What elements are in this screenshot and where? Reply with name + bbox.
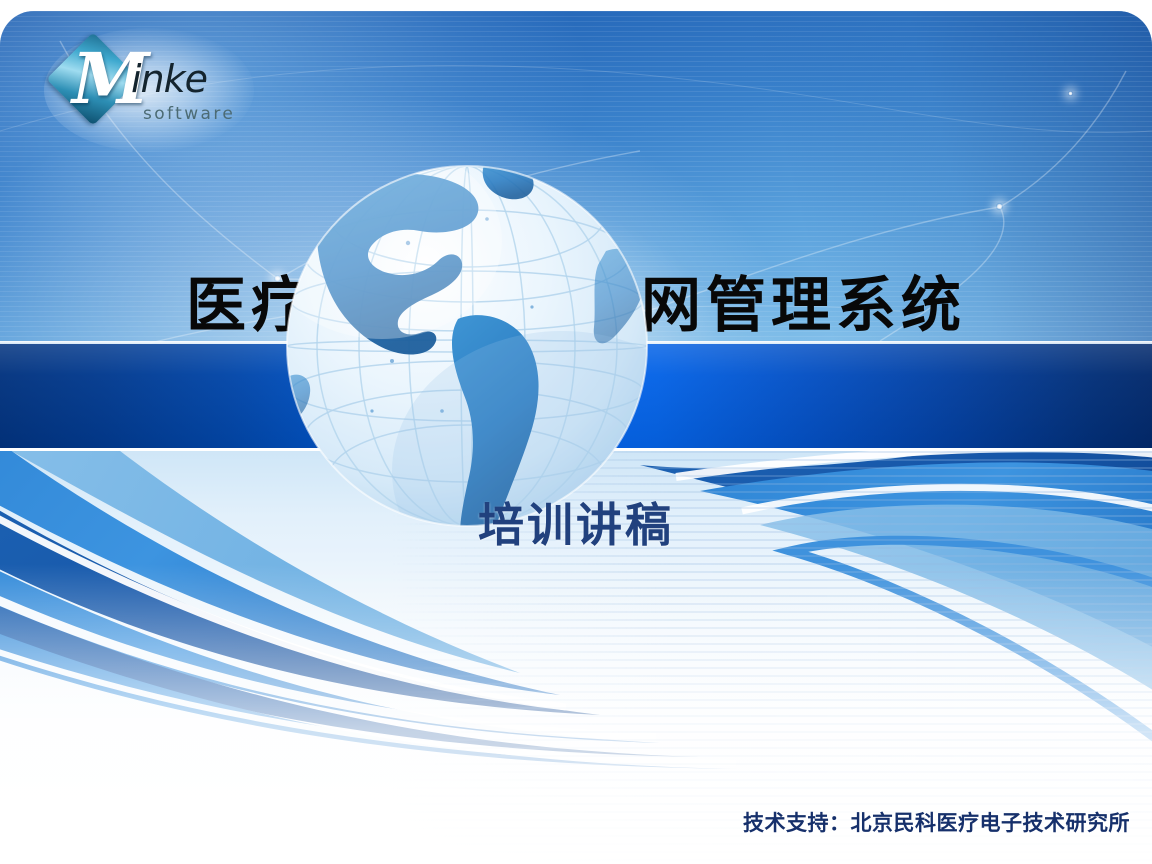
- logo-tagline: software: [143, 104, 235, 124]
- logo-wordmark: inke: [131, 60, 207, 98]
- slide-subtitle: 培训讲稿: [0, 495, 1152, 555]
- brand-logo: M inke software: [58, 38, 238, 143]
- footer-credit: 技术支持：北京民科医疗电子技术研究所: [743, 808, 1130, 838]
- title-slide: M inke software 医疗机构注册联网管理系统: [0, 11, 1152, 864]
